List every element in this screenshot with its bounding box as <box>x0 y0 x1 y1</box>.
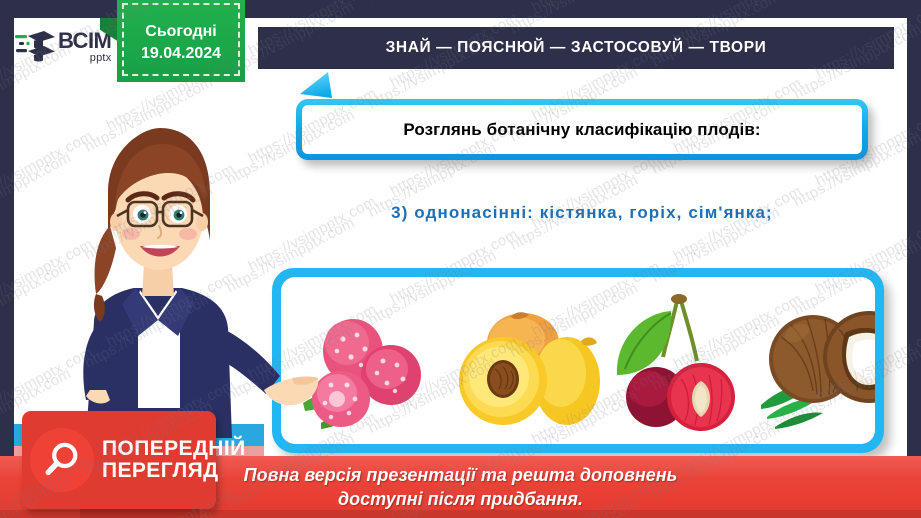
date-badge: Сьогодні 19.04.2024 <box>117 0 245 82</box>
footer-line-2: доступні після придбання. <box>338 487 583 511</box>
brand-logo-text: ВСІМ pptx <box>58 30 111 64</box>
peach-image <box>441 295 601 440</box>
preview-badge-text: ПОПЕРЕДНІЙ ПЕРЕГЛЯД <box>102 438 246 482</box>
header-title: ЗНАЙ — ПОЯСНЮЙ — ЗАСТОСОВУЙ — ТВОРИ <box>386 39 767 57</box>
magnifier-icon <box>30 428 94 492</box>
preview-badge-line-1: ПОПЕРЕДНІЙ <box>102 438 246 460</box>
slide-header-bar: ЗНАЙ — ПОЯСНЮЙ — ЗАСТОСОВУЙ — ТВОРИ <box>258 27 894 69</box>
brand-subtitle: pptx <box>58 53 111 64</box>
date-badge-value: 19.04.2024 <box>141 43 221 65</box>
brand-name: ВСІМ <box>58 30 111 52</box>
speech-bubble-text: Розглянь ботанічну класифікацію плодів: <box>403 120 760 140</box>
cherry-image <box>601 285 751 440</box>
fruit-image-panel <box>272 268 884 453</box>
graduation-cap-icon <box>14 27 56 67</box>
footer-line-1: Повна версія презентації та решта доповн… <box>244 463 678 487</box>
preview-badge-line-2: ПЕРЕГЛЯД <box>102 460 246 482</box>
presentation-slide: ЗНАЙ — ПОЯСНЮЙ — ЗАСТОСОВУЙ — ТВОРИ ВСІМ… <box>0 0 921 518</box>
coconut-image <box>751 285 875 440</box>
speech-bubble: Розглянь ботанічну класифікацію плодів: <box>296 99 868 160</box>
preview-badge[interactable]: ПОПЕРЕДНІЙ ПЕРЕГЛЯД <box>22 411 216 509</box>
date-badge-label: Сьогодні <box>145 21 216 43</box>
speech-bubble-inner: Розглянь ботанічну класифікацію плодів: <box>302 105 862 154</box>
classification-text: 3) однонасінні: кістянка, горіх, сім'янк… <box>391 203 773 223</box>
teacher-character-image <box>30 108 320 458</box>
fruit-image-panel-inner <box>281 277 875 444</box>
classification-line: 3) однонасінні: кістянка, горіх, сім'янк… <box>296 196 868 230</box>
